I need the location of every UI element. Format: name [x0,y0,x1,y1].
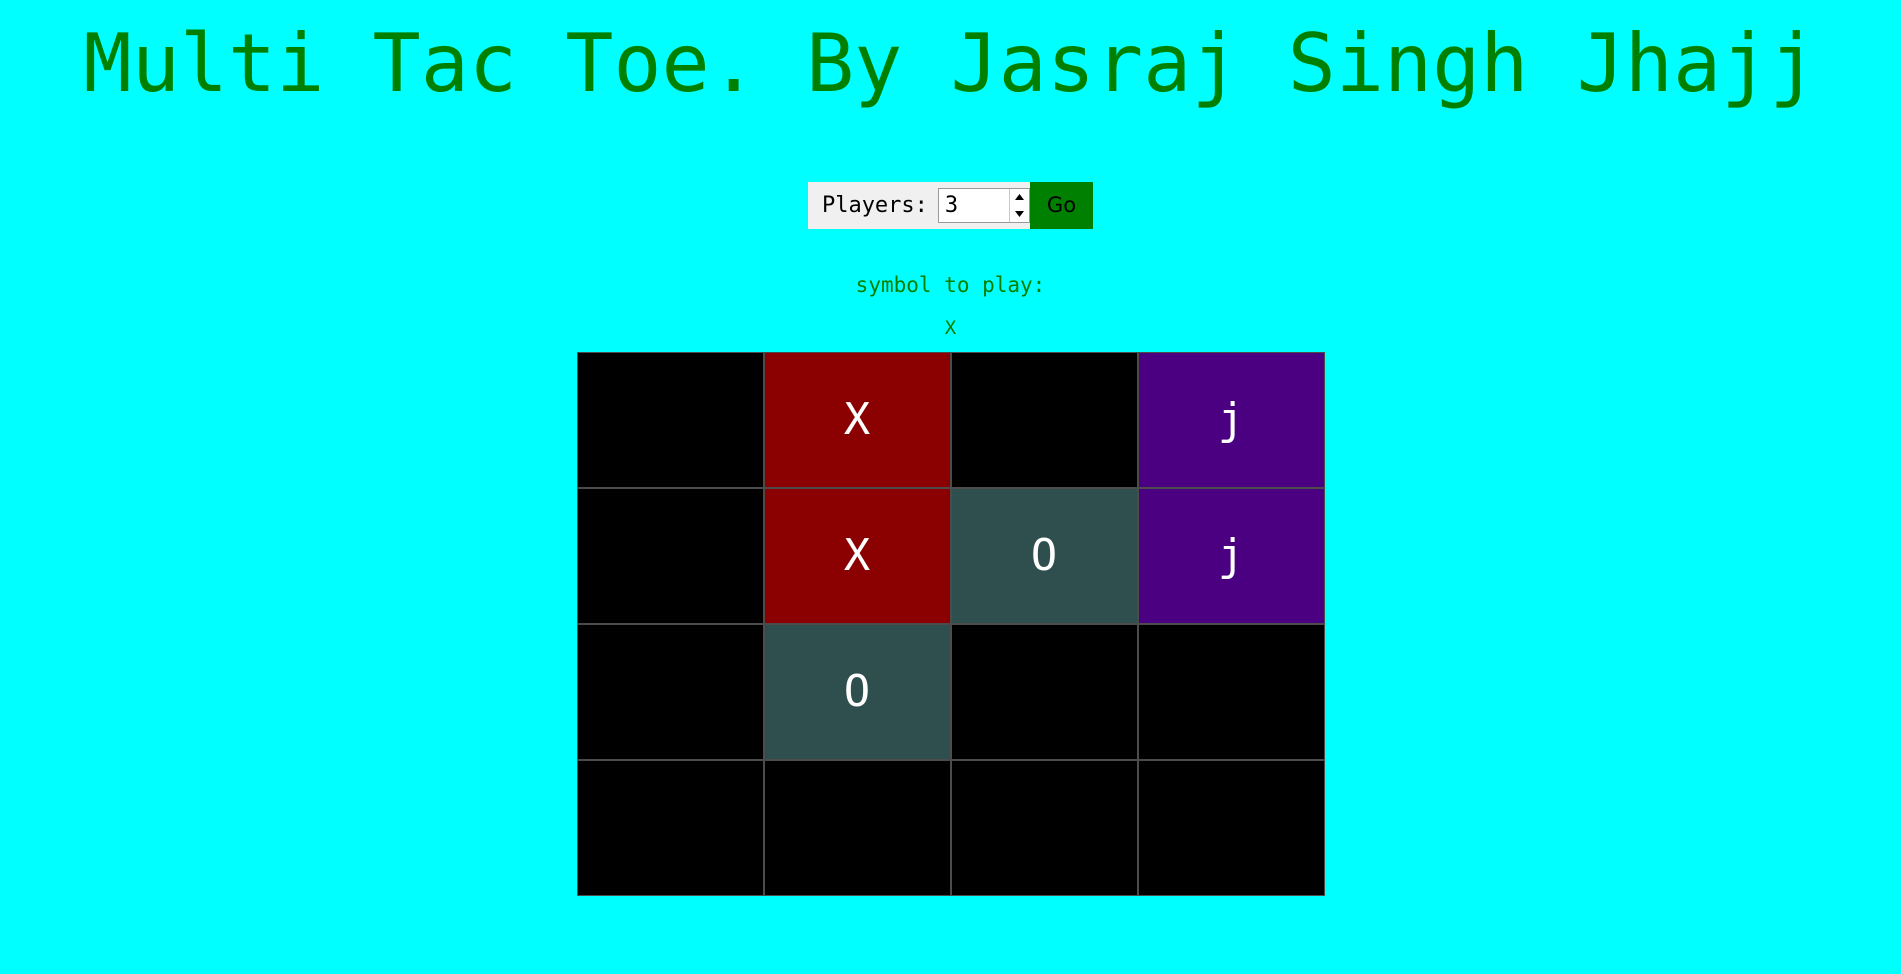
board-container: XjXOjO [0,352,1901,896]
board-cell-r1-c1[interactable]: X [764,488,951,624]
board-cell-r1-c2[interactable]: O [951,488,1138,624]
page-title: Multi Tac Toe. By Jasraj Singh Jhajj [0,14,1901,114]
app-root: Multi Tac Toe. By Jasraj Singh Jhajj Pla… [0,0,1901,974]
board-cell-r3-c1[interactable] [764,760,951,896]
board-cell-r2-c3[interactable] [1138,624,1325,760]
players-input[interactable] [939,189,1009,222]
board-cell-r0-c1[interactable]: X [764,352,951,488]
symbol-to-play-value: X [0,316,1901,340]
board-cell-r2-c0[interactable] [577,624,764,760]
players-stepper[interactable] [938,188,1030,223]
board-cell-r2-c2[interactable] [951,624,1138,760]
board-cell-r1-c0[interactable] [577,488,764,624]
players-spinner[interactable] [1009,189,1029,222]
players-panel: Players: Go [808,182,1093,229]
chevron-down-icon[interactable] [1010,206,1029,223]
board-cell-r3-c0[interactable] [577,760,764,896]
players-label: Players: [808,182,938,229]
board-cell-r3-c2[interactable] [951,760,1138,896]
board-cell-r2-c1[interactable]: O [764,624,951,760]
chevron-up-icon[interactable] [1010,189,1029,206]
board-cell-r0-c2[interactable] [951,352,1138,488]
board-cell-r3-c3[interactable] [1138,760,1325,896]
go-button[interactable]: Go [1030,182,1093,229]
board-cell-r0-c0[interactable] [577,352,764,488]
game-board: XjXOjO [577,352,1325,896]
board-cell-r0-c3[interactable]: j [1138,352,1325,488]
controls-bar: Players: Go [0,182,1901,229]
symbol-to-play-label: symbol to play: [0,272,1901,298]
board-cell-r1-c3[interactable]: j [1138,488,1325,624]
